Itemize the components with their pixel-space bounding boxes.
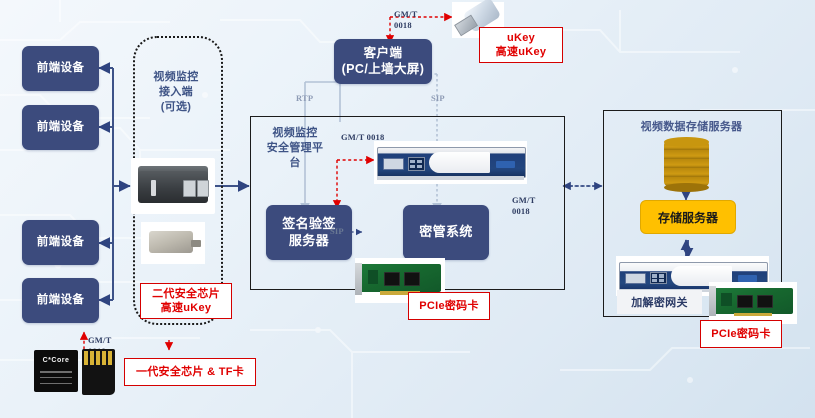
gateway-ethernet-ports — [650, 272, 667, 284]
front-end-device-4[interactable]: 前端设备 — [22, 278, 99, 323]
second-gen-chip-callout-line1: 二代安全芯片 — [152, 287, 220, 301]
security-chip-line-3 — [40, 383, 72, 385]
first-gen-security-chip-image: C*Core — [34, 350, 78, 392]
second-gen-chip-callout: 二代安全芯片 高速uKey — [140, 283, 232, 319]
access-gateway-device-image — [131, 158, 215, 214]
client-protocol-line1: GM/T — [394, 9, 417, 20]
access-gateway-card-slot — [151, 180, 156, 196]
client-label-line1: 客户端 — [364, 46, 403, 62]
client-label-line2: (PC/上墙大屏) — [342, 62, 425, 78]
storage-server-node[interactable]: 存储服务器 — [640, 200, 736, 234]
key-management-system-label: 密管系统 — [419, 224, 473, 240]
access-terminal-group-label: 视频监控 接入端 (可选) — [136, 70, 216, 115]
storage-pcie-component-block — [721, 293, 732, 306]
gateway-nic-module — [625, 273, 645, 284]
access-terminal-label-line3: (可选) — [136, 100, 216, 115]
front-end-device-1-label: 前端设备 — [37, 61, 85, 75]
front-end-device-2[interactable]: 前端设备 — [22, 105, 99, 150]
storage-pcie-crypto-card-image — [709, 282, 797, 324]
rtp-protocol-label: RTP — [296, 93, 313, 104]
security-module-usb-plug — [191, 240, 201, 247]
tf-card-image — [82, 349, 115, 395]
rack-front-bezel — [429, 152, 490, 173]
storage-pcie-callout: PCIe密码卡 — [700, 320, 782, 348]
platform-pcie-callout: PCIe密码卡 — [408, 292, 490, 320]
storage-pcie-bracket — [709, 286, 716, 316]
second-gen-security-module-image — [141, 222, 205, 264]
access-gateway-lan-port-1 — [183, 180, 196, 197]
bottom-left-protocol-line1: GM/T — [88, 335, 111, 346]
rack-ethernet-ports — [408, 157, 425, 170]
pcie-component-block — [368, 270, 379, 284]
db-cylinder-base — [664, 183, 709, 193]
platform-label-line1: 视频监控 — [259, 126, 331, 141]
rack-port-dot-1 — [410, 160, 415, 164]
platform-group-label: 视频监控 安全管理平 台 — [259, 126, 331, 171]
platform-right-protocol-line2: 0018 — [512, 206, 535, 217]
security-chip-line-1 — [40, 371, 72, 373]
client-node[interactable]: 客户端 (PC/上墙大屏) — [334, 39, 432, 84]
platform-right-protocol-label: GM/T 0018 — [512, 195, 535, 216]
rack-nic-module — [383, 158, 403, 169]
storage-pcie-chip-2 — [757, 295, 773, 309]
client-protocol-label: GM/T 0018 — [394, 9, 417, 30]
gateway-port-dot-3 — [652, 279, 657, 282]
sip-protocol-label-internal: SIP — [330, 226, 344, 237]
storage-server-label: 存储服务器 — [658, 209, 718, 226]
front-end-device-2-label: 前端设备 — [37, 120, 85, 134]
sign-server-line2: 服务器 — [289, 233, 329, 249]
rack-shadow — [377, 176, 524, 180]
diagram-canvas: 前端设备 前端设备 前端设备 前端设备 视频监控 接入端 (可选) 二代安全芯片… — [0, 0, 815, 418]
sip-protocol-label-client: SIP — [431, 93, 445, 104]
sign-server-line1: 签名验签 — [282, 216, 336, 232]
pcie-chip-1 — [384, 272, 400, 287]
platform-right-protocol-line1: GM/T — [512, 195, 535, 206]
pcie-chip-2 — [404, 272, 420, 287]
tf-card-gold-contacts — [84, 351, 113, 365]
ukey-callout-line1: uKey — [507, 31, 535, 45]
security-chip-line-2 — [40, 377, 72, 379]
db-cylinder-top — [664, 137, 709, 147]
security-chip-brand-text: C*Core — [34, 357, 78, 364]
first-gen-chip-tf-callout: 一代安全芯片 & TF卡 — [124, 358, 256, 386]
storage-pcie-chip-1 — [737, 295, 753, 309]
second-gen-chip-callout-line2: 高速uKey — [161, 301, 212, 315]
storage-pcie-gold-fingers — [734, 313, 773, 316]
front-end-device-3[interactable]: 前端设备 — [22, 220, 99, 265]
gateway-port-dot-2 — [659, 274, 664, 277]
rack-port-dot-4 — [417, 165, 422, 169]
platform-rack-server-image — [374, 141, 527, 184]
security-module-shell — [149, 231, 194, 253]
access-terminal-label-line1: 视频监控 — [136, 70, 216, 85]
gateway-port-dot-1 — [652, 274, 657, 277]
ukey-callout-line2: 高速uKey — [496, 45, 547, 59]
access-gateway-lan-port-2 — [197, 180, 210, 197]
ukey-callout: uKey 高速uKey — [479, 27, 563, 63]
pcie-bracket — [355, 263, 362, 295]
db-cylinder-body — [664, 141, 709, 186]
rack-port-dot-3 — [410, 165, 415, 169]
video-database-cylinder-icon — [664, 137, 709, 190]
gateway-port-dot-4 — [659, 279, 664, 282]
rack-right-indicator — [496, 161, 514, 168]
storage-group-title: 视频数据存储服务器 — [608, 120, 775, 135]
access-terminal-label-line2: 接入端 — [136, 85, 216, 100]
front-end-device-1[interactable]: 前端设备 — [22, 46, 99, 91]
rack-port-dot-2 — [417, 160, 422, 164]
platform-label-line2: 安全管理平 — [259, 141, 331, 156]
client-protocol-line2: 0018 — [394, 20, 417, 31]
platform-label-line3: 台 — [259, 156, 331, 171]
front-end-device-3-label: 前端设备 — [37, 235, 85, 249]
key-management-system-node[interactable]: 密管系统 — [403, 205, 489, 260]
gateway-right-indicator — [738, 275, 756, 281]
front-end-device-4-label: 前端设备 — [37, 293, 85, 307]
decryption-gateway-label: 加解密网关 — [617, 290, 702, 314]
